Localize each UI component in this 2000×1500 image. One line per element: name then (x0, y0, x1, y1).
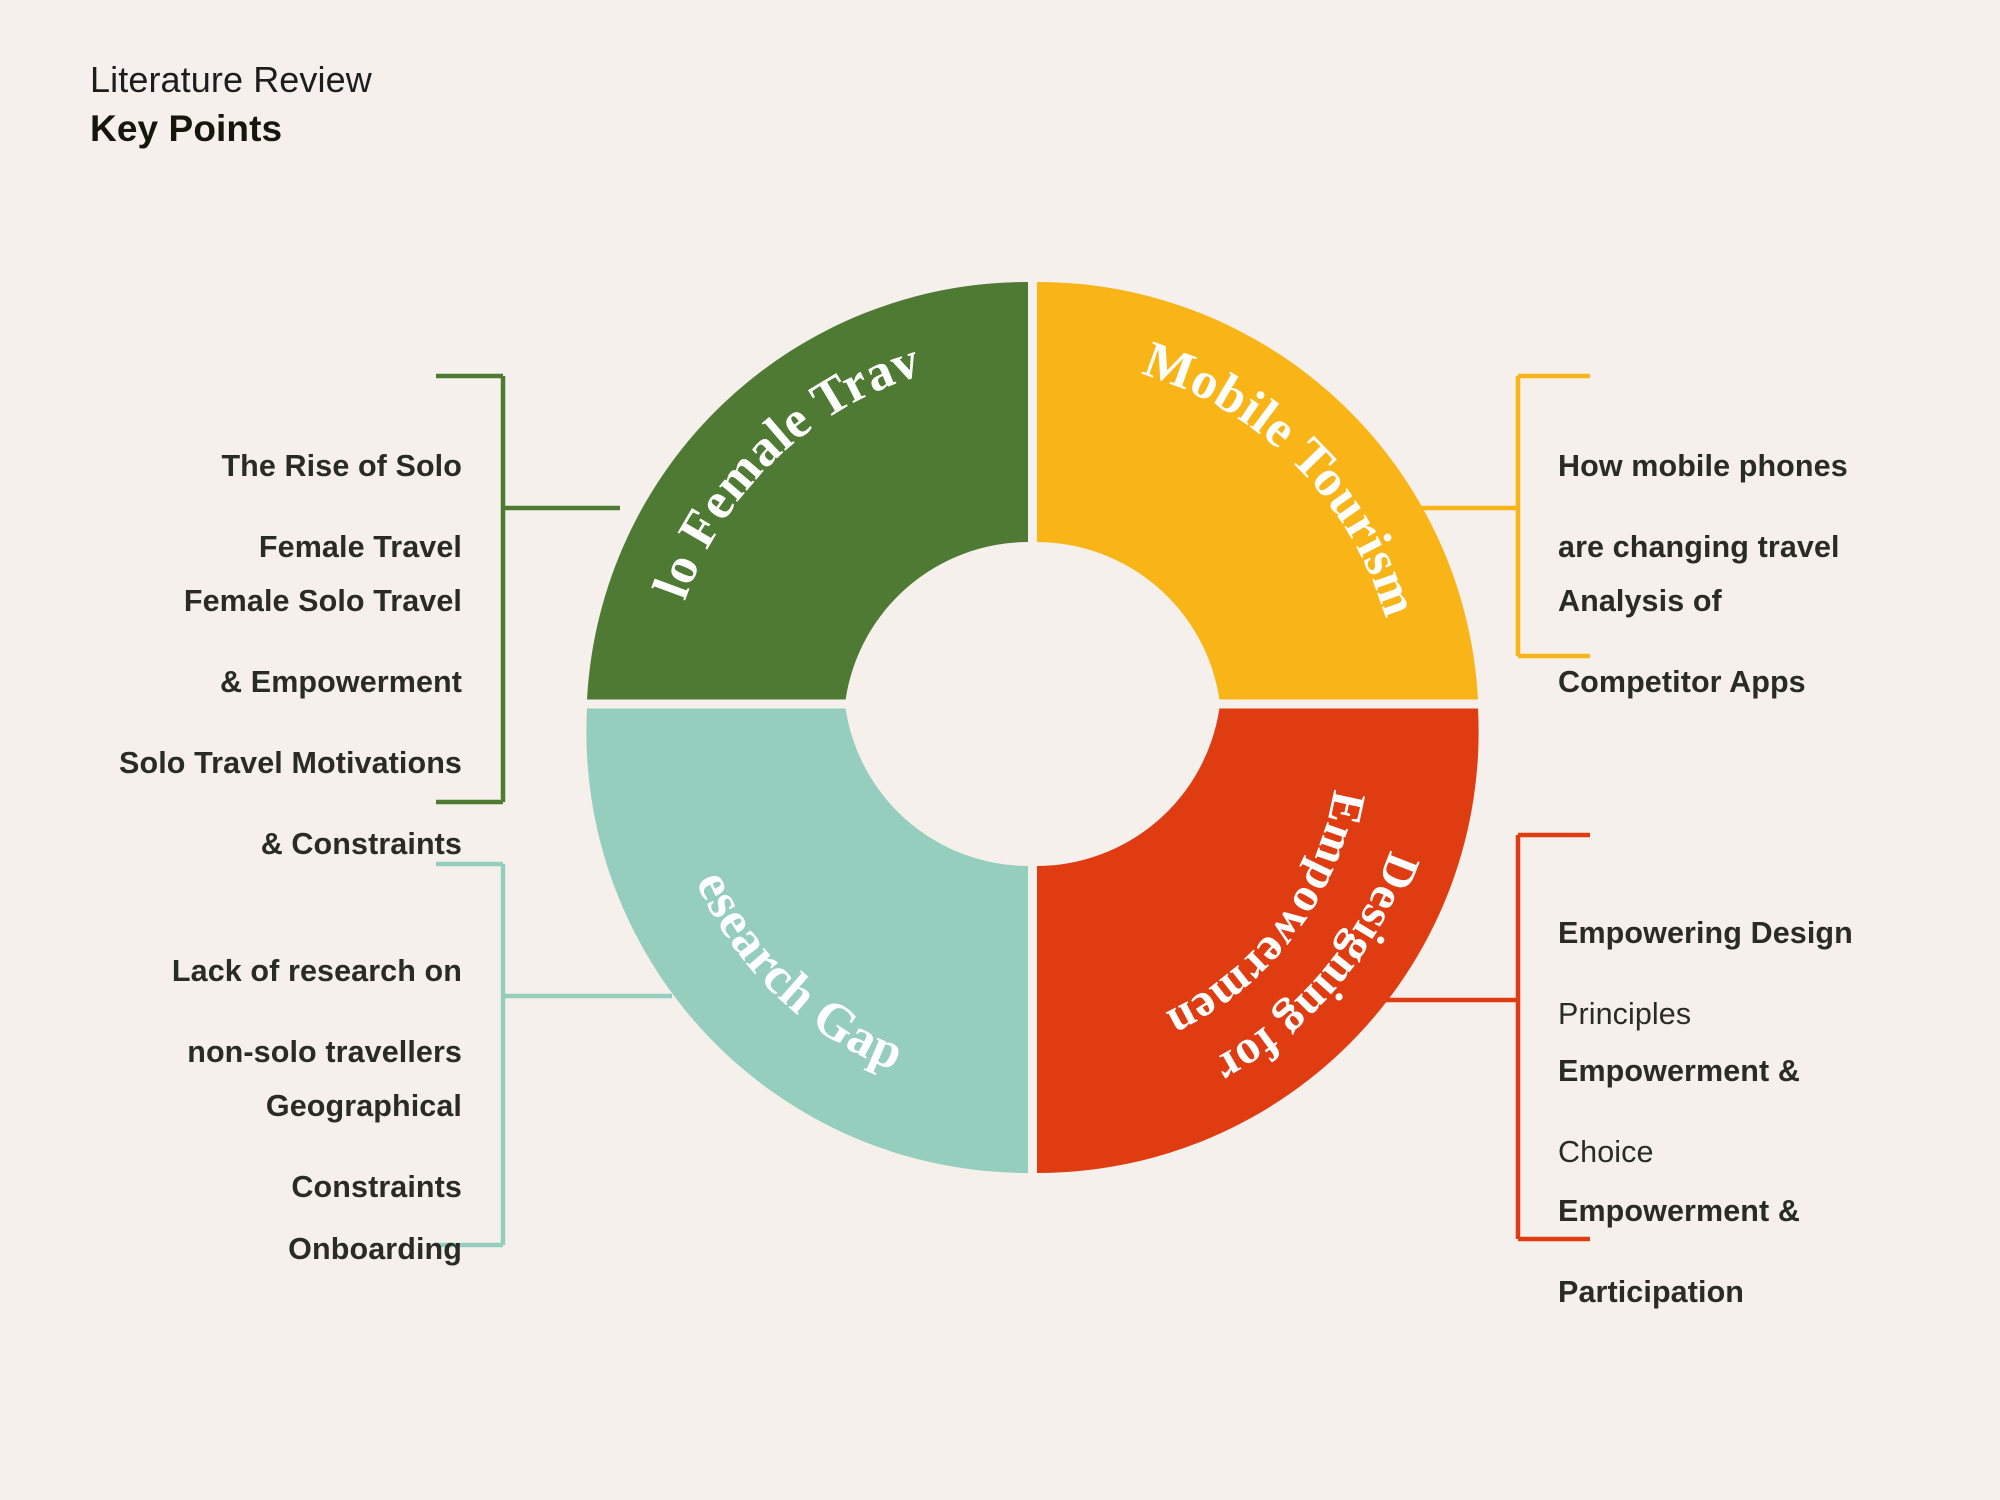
donut-segment-mobile-tourism[interactable]: Mobile Tourism (1037, 282, 1478, 700)
label-line-1: Solo Travel Motivations (0, 743, 462, 784)
label-line-1: Geographical (0, 1086, 462, 1127)
donut-chart: Solo Female Travel Mobile Tourism Resear… (560, 255, 1505, 1200)
donut-segment-solo-female-travel[interactable]: Solo Female Travel (560, 255, 1028, 700)
label-line-2: Participation (1558, 1272, 1988, 1313)
donut-segment-research-gaps-shape[interactable] (586, 709, 1028, 1174)
donut-segment-mobile-tourism-shape[interactable] (1037, 282, 1478, 700)
label-line-1: Empowerment & (1558, 1191, 1988, 1232)
label-line-1: Female Solo Travel (0, 581, 462, 622)
label-line-2: & Empowerment (0, 662, 462, 703)
label-item-onboarding: Onboarding (0, 1188, 462, 1310)
label-line-1: The Rise of Solo (0, 446, 462, 487)
label-line-1: Empowering Design (1558, 913, 1988, 954)
label-line-1: Onboarding (0, 1229, 462, 1270)
label-line-2: & Constraints (0, 824, 462, 865)
title-eyebrow: Literature Review (90, 58, 372, 102)
label-line-1: Lack of research on (0, 951, 462, 992)
label-line-1: Analysis of (1558, 581, 1988, 622)
donut-segment-solo-female-travel-shape[interactable] (587, 282, 1028, 700)
label-item-empowerment-participation: Empowerment & Participation (1558, 1150, 1988, 1353)
label-line-2: Competitor Apps (1558, 662, 1988, 703)
label-line-1: Empowerment & (1558, 1051, 1988, 1092)
title-headline: Key Points (90, 106, 372, 151)
label-item-solo-travel-motivations-constraints: Solo Travel Motivations & Constraints (0, 702, 462, 905)
label-item-analysis-of-competitor-apps: Analysis of Competitor Apps (1558, 540, 1988, 743)
page-title: Literature Review Key Points (90, 58, 372, 151)
label-line-1: How mobile phones (1558, 446, 1988, 487)
infographic-canvas: Literature Review Key Points (0, 0, 2000, 1500)
